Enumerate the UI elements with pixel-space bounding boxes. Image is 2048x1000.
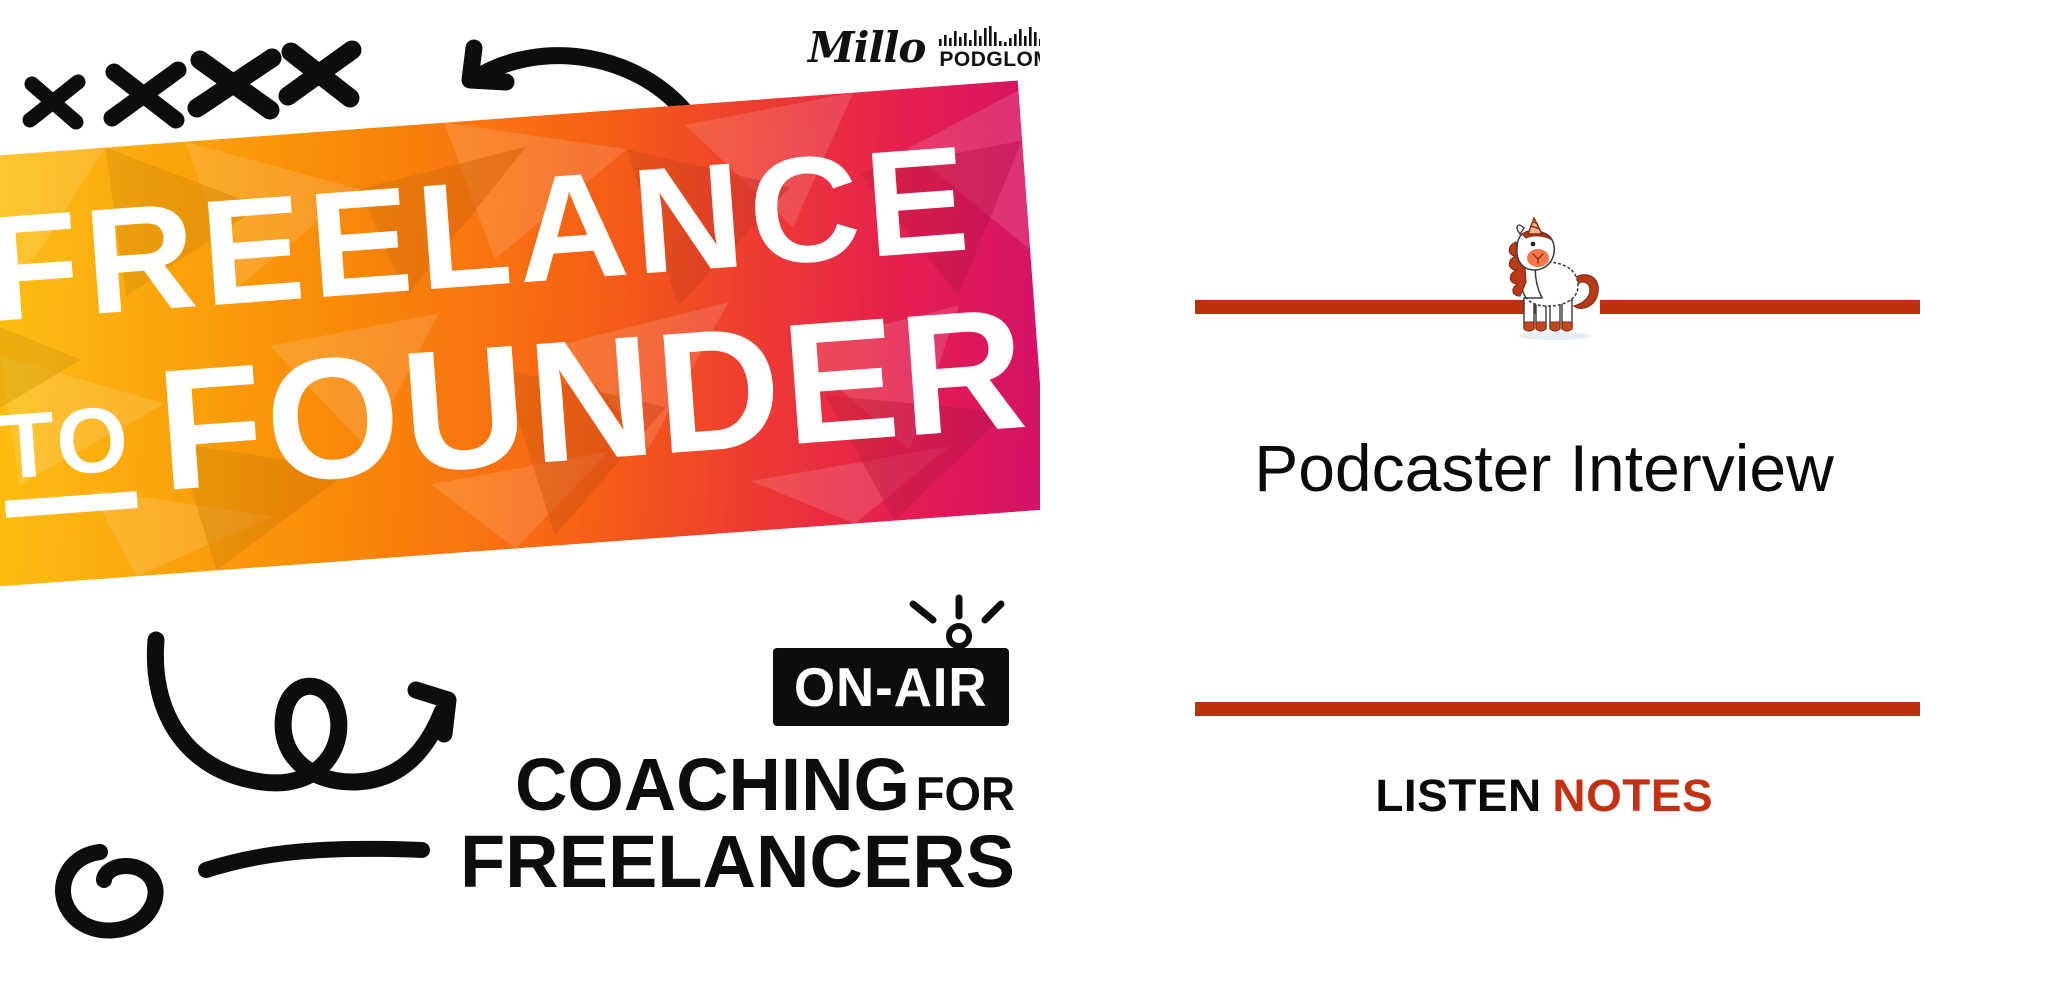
dash-doodle-icon (206, 849, 422, 870)
tagline-row-freelancers: FREELANCERS (545, 819, 1015, 904)
podcast-cover-art: FREELANCE TO FOUNDER ON-AIR (0, 0, 1040, 1000)
divider-top-left-segment (1195, 300, 1545, 314)
millo-wordmark: Millo (808, 27, 925, 69)
tagline-word-coaching: COACHING (515, 742, 910, 827)
tagline-word-for: FOR (916, 766, 1015, 821)
x-mark-1 (30, 82, 78, 122)
banner-text: FREELANCE TO FOUNDER (0, 80, 1040, 589)
podglomerate-wordmark: PODGLOMERATE (939, 49, 1040, 70)
listen-notes-panel: Podcaster Interview LISTEN NOTES (1040, 0, 2048, 1000)
brand-word-notes: NOTES (1552, 770, 1713, 822)
tagline-word-freelancers: FREELANCERS (460, 819, 1015, 904)
x-mark-4 (288, 50, 352, 98)
divider-bottom (1195, 702, 1920, 716)
on-air-badge: ON-AIR (773, 648, 1009, 726)
unicorn-mascot-icon (1500, 212, 1610, 342)
on-air-label: ON-AIR (794, 655, 987, 719)
audio-waveform-icon (939, 26, 1040, 46)
tagline-row-coaching: COACHING FOR (545, 742, 1015, 827)
screenshot-canvas: FREELANCE TO FOUNDER ON-AIR (0, 0, 2048, 1000)
listen-notes-brand: LISTEN NOTES (1040, 770, 2048, 822)
brand-word-listen: LISTEN (1375, 770, 1541, 822)
cover-tagline-block: ON-AIR COACHING FOR FREELANCERS (545, 648, 1015, 904)
broadcast-rays-icon (773, 590, 1009, 652)
x-mark-3 (197, 58, 272, 110)
divider-top-right-segment (1600, 300, 1920, 314)
page-title: Podcaster Interview (1040, 430, 2048, 506)
banner-word-to: TO (0, 395, 136, 522)
cover-title-banner: FREELANCE TO FOUNDER (0, 80, 1040, 589)
x-mark-2 (112, 70, 178, 120)
network-logo: Millo (808, 26, 1040, 70)
looping-arrow-right-icon (155, 640, 448, 783)
podglomerate-lockup: PODGLOMERATE (939, 26, 1040, 70)
circle-doodle-icon (63, 852, 156, 931)
